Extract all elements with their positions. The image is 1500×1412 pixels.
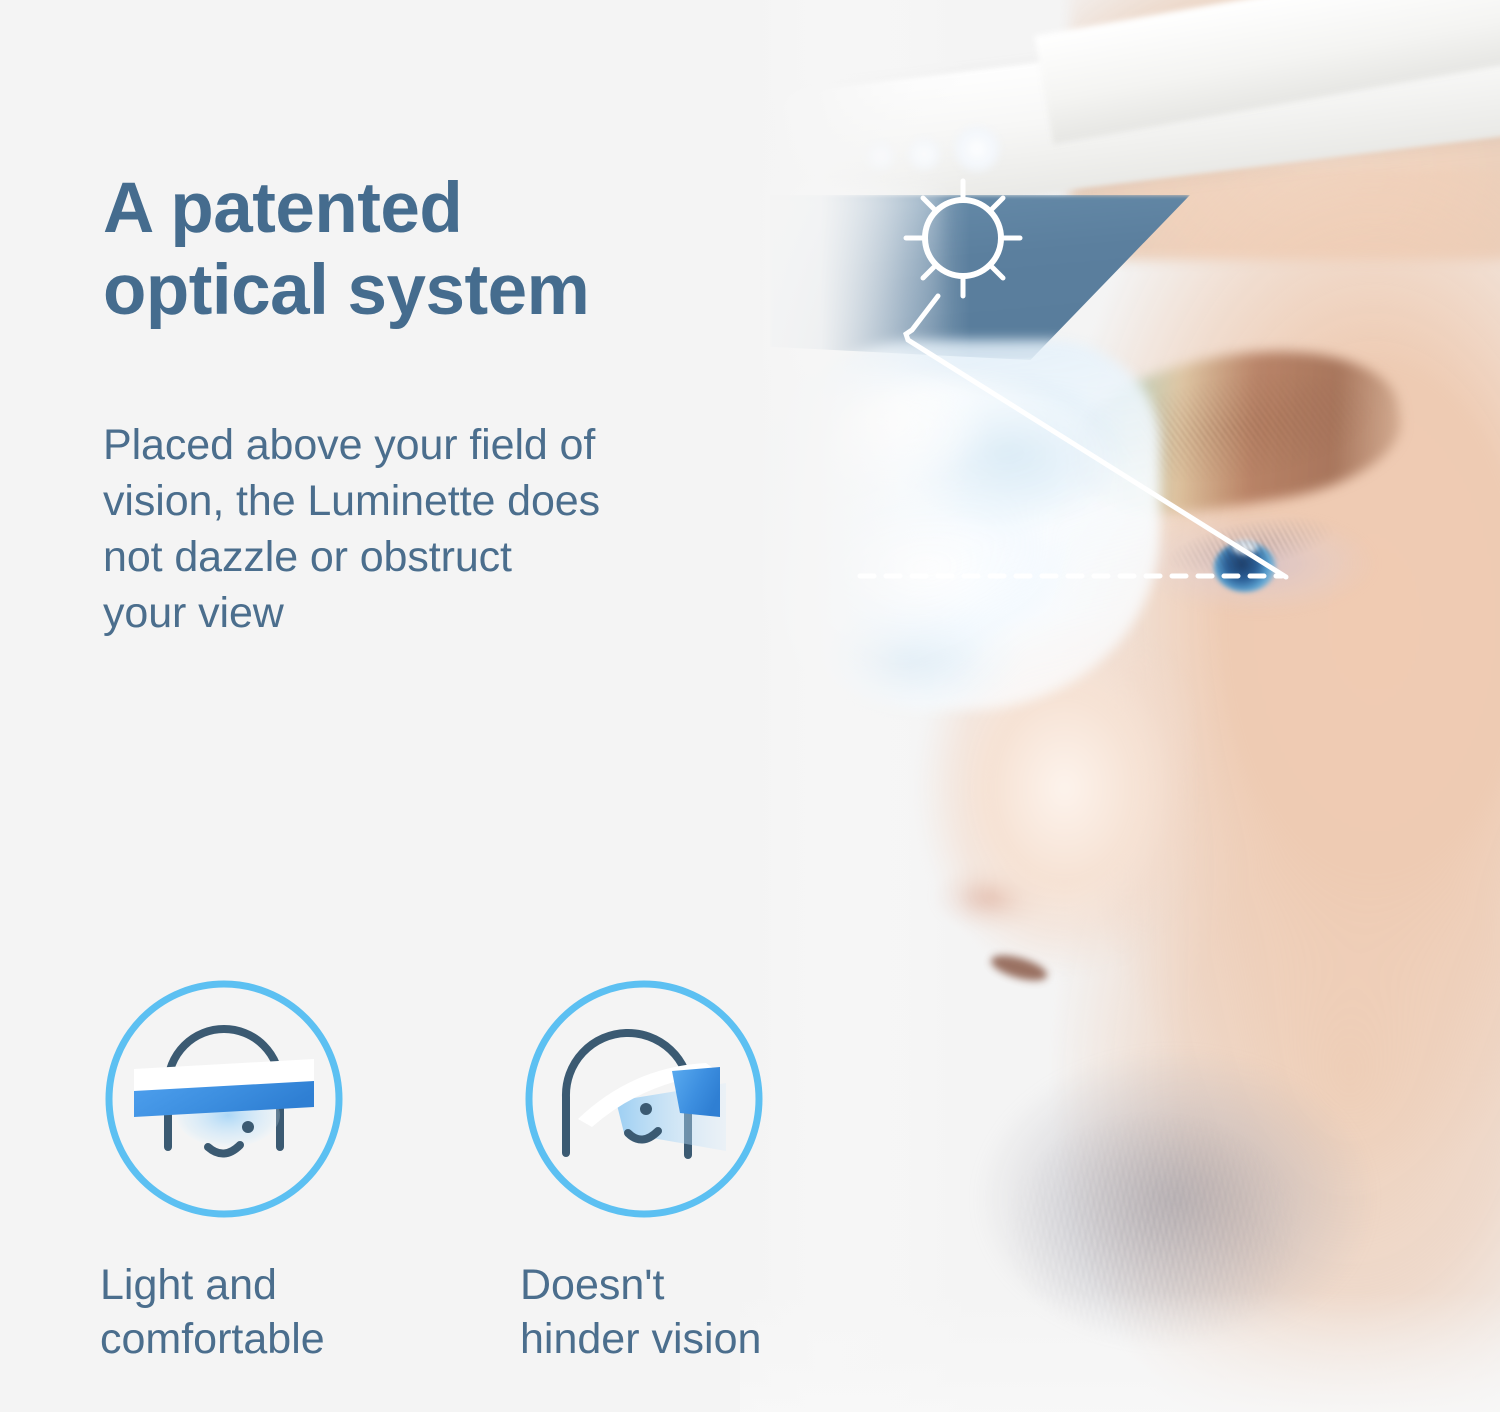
feature-item-light-and-comfortable: Light and comfortable — [100, 975, 362, 1367]
feature-caption-2: Doesn't hinder vision — [520, 1259, 782, 1367]
head-profile-with-light-beam-icon — [520, 975, 768, 1223]
page-title: A patented optical system — [103, 168, 823, 333]
feature-item-doesnt-hinder-vision: Doesn't hinder vision — [520, 975, 782, 1367]
feature-badge-1 — [100, 975, 348, 1223]
face-front-with-glasses-icon — [100, 975, 348, 1223]
feature-badge-2 — [520, 975, 768, 1223]
text-column: A patented optical system Placed above y… — [0, 0, 880, 1412]
page-subtitle: Placed above your field of vision, the L… — [103, 418, 803, 642]
product-feature-page: A patented optical system Placed above y… — [0, 0, 1500, 1412]
feature-list: Light and comfortable — [100, 975, 880, 1367]
feature-caption-1: Light and comfortable — [100, 1259, 362, 1367]
